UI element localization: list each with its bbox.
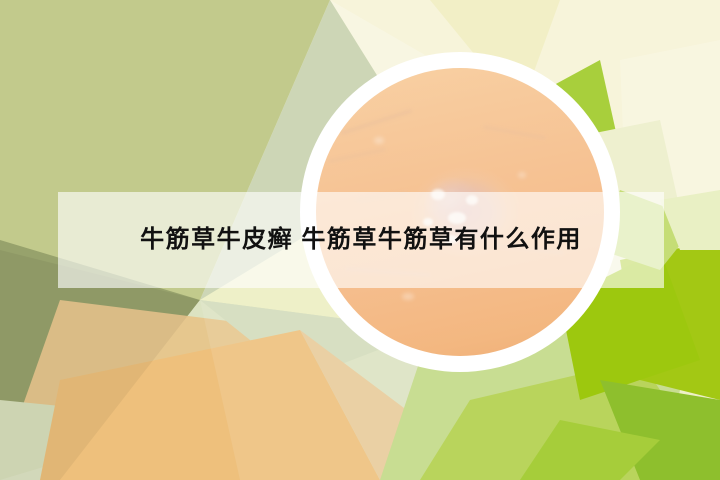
caption-band: 牛筋草牛皮癣 牛筋草牛筋草有什么作用 xyxy=(58,192,664,288)
skin-speck xyxy=(402,293,414,300)
skin-texture-line xyxy=(328,148,385,163)
poster-canvas: 牛筋草牛皮癣 牛筋草牛筋草有什么作用 xyxy=(0,0,720,480)
skin-texture-line xyxy=(340,108,412,135)
skin-speck xyxy=(374,137,384,144)
skin-speck xyxy=(518,172,526,178)
caption-title: 牛筋草牛皮癣 牛筋草牛筋草有什么作用 xyxy=(140,228,582,252)
skin-texture-line xyxy=(483,126,546,140)
